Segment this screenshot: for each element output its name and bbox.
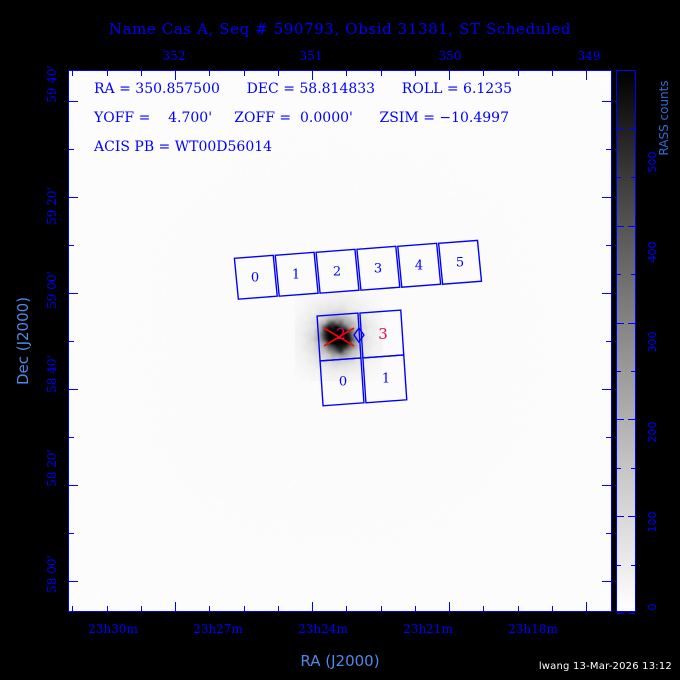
chip-label-acis-i-1: 1: [382, 372, 390, 387]
colorbar-tick: [617, 468, 621, 469]
y-axis-tick: [602, 293, 611, 294]
colorbar-ticklabel-1: 100: [646, 512, 659, 533]
colorbar-tick: [617, 419, 624, 420]
colorbar-ticklabel-5: 500: [646, 152, 659, 173]
colorbar-ticklabel-2: 200: [646, 422, 659, 443]
x-axis-tick: [72, 71, 73, 76]
y-axis-tick: [69, 197, 78, 198]
x-axis-tick: [381, 606, 382, 611]
y-axis-tick: [606, 437, 611, 438]
x-axis-tick: [107, 606, 108, 611]
x-axis-tick: [449, 71, 450, 80]
param-line-ra-dec-roll: RA = 350.857500 DEC = 58.814833 ROLL = 6…: [94, 82, 512, 96]
chip-label-acis-i-3-active: 3: [378, 325, 388, 343]
y-axis-tick: [606, 149, 611, 150]
chip-label-acis-s-5: 5: [456, 256, 464, 271]
colorbar-tick: [628, 613, 635, 614]
x-axis-tick: [415, 71, 416, 76]
colorbar-tick: [617, 323, 624, 324]
y-axis-tick: [602, 197, 611, 198]
x-axis-tick: [552, 71, 553, 76]
bottom-ticklabel-1: 23h27m: [193, 623, 243, 635]
colorbar-ticklabel-4: 400: [646, 242, 659, 263]
colorbar[interactable]: [616, 70, 636, 612]
colorbar-tick: [631, 468, 635, 469]
page-title: Name Cas A, Seq # 590793, Obsid 31381, S…: [0, 20, 680, 38]
footer-timestamp: lwang 13-Mar-2026 13:12: [539, 661, 672, 672]
colorbar-tick: [628, 129, 635, 130]
x-axis-tick: [72, 606, 73, 611]
y-axis-tick: [606, 341, 611, 342]
chip-label-acis-i-2-active: 2: [336, 325, 346, 343]
x-axis-tick: [586, 71, 587, 80]
top-ticklabel-0: 352: [163, 50, 186, 62]
y-axis-tick: [69, 293, 78, 294]
x-axis-tick: [346, 606, 347, 611]
left-ticklabel-1: 59 20': [46, 187, 58, 225]
param-line-yoff-zoff-zsim: YOFF = 4.700' ZOFF = 0.0000' ZSIM = −10.…: [94, 111, 509, 125]
left-ticklabel-2: 59 00': [46, 271, 58, 309]
y-axis-title: Dec (J2000): [14, 297, 32, 385]
colorbar-title: RASS counts: [657, 80, 671, 155]
colorbar-tick: [617, 177, 621, 178]
colorbar-tick: [631, 565, 635, 566]
chip-label-acis-s-3: 3: [374, 262, 382, 277]
chip-label-acis-s-0: 0: [251, 271, 259, 286]
x-axis-tick: [175, 602, 176, 611]
x-axis-tick: [141, 606, 142, 611]
x-axis-tick: [312, 71, 313, 80]
x-axis-tick: [209, 606, 210, 611]
x-axis-tick: [244, 606, 245, 611]
x-axis-tick: [483, 606, 484, 611]
y-axis-tick: [602, 581, 611, 582]
x-axis-tick: [346, 71, 347, 76]
top-ticklabel-2: 350: [439, 50, 462, 62]
x-axis-tick: [278, 71, 279, 76]
bottom-ticklabel-2: 23h24m: [298, 623, 348, 635]
y-axis-tick: [69, 389, 78, 390]
left-ticklabel-3: 58 40': [46, 355, 58, 393]
x-axis-tick: [518, 71, 519, 76]
colorbar-tick: [628, 226, 635, 227]
y-axis-tick: [606, 533, 611, 534]
param-line-acis-pb: ACIS PB = WT00D56014: [94, 140, 272, 154]
x-axis-tick: [141, 71, 142, 76]
x-axis-tick: [209, 71, 210, 76]
left-ticklabel-5: 58 00': [46, 555, 58, 593]
colorbar-tick: [628, 516, 635, 517]
left-ticklabel-0: 59 40': [46, 65, 58, 103]
x-axis-tick: [415, 606, 416, 611]
colorbar-tick: [628, 323, 635, 324]
colorbar-tick: [628, 419, 635, 420]
colorbar-tick: [617, 371, 621, 372]
bottom-ticklabel-4: 23h18m: [508, 623, 558, 635]
y-axis-tick: [69, 341, 74, 342]
y-axis-tick: [69, 149, 74, 150]
y-axis-tick: [69, 485, 78, 486]
chip-label-acis-s-2: 2: [333, 265, 341, 280]
x-axis-tick: [381, 71, 382, 76]
colorbar-tick: [617, 565, 621, 566]
bottom-ticklabel-0: 23h30m: [88, 623, 138, 635]
colorbar-ticklabel-0: 0: [646, 604, 659, 611]
colorbar-tick: [631, 177, 635, 178]
top-ticklabel-1: 351: [300, 50, 323, 62]
x-axis-tick: [518, 606, 519, 611]
colorbar-tick: [631, 371, 635, 372]
y-axis-tick: [602, 389, 611, 390]
colorbar-tick: [617, 613, 624, 614]
y-axis-tick: [69, 101, 78, 102]
x-axis-tick: [552, 606, 553, 611]
left-ticklabel-4: 58 20': [46, 449, 58, 487]
chip-label-acis-i-0: 0: [339, 375, 347, 390]
colorbar-ticklabel-3: 300: [646, 332, 659, 353]
x-axis-tick: [278, 606, 279, 611]
bottom-ticklabel-3: 23h21m: [403, 623, 453, 635]
x-axis-tick: [107, 71, 108, 76]
x-axis-tick: [586, 602, 587, 611]
y-axis-tick: [69, 533, 74, 534]
chip-label-acis-s-1: 1: [292, 268, 300, 283]
chip-label-acis-s-4: 4: [415, 259, 423, 274]
y-axis-tick: [69, 245, 74, 246]
y-axis-tick: [602, 101, 611, 102]
colorbar-tick: [617, 129, 624, 130]
colorbar-tick: [617, 226, 624, 227]
x-axis-tick: [483, 71, 484, 76]
x-axis-tick: [244, 71, 245, 76]
observation-plot-window: Name Cas A, Seq # 590793, Obsid 31381, S…: [0, 0, 680, 680]
x-axis-tick: [175, 71, 176, 80]
colorbar-tick: [631, 274, 635, 275]
y-axis-tick: [69, 437, 74, 438]
y-axis-tick: [602, 485, 611, 486]
y-axis-tick: [69, 581, 78, 582]
y-axis-tick: [606, 245, 611, 246]
colorbar-tick: [617, 516, 624, 517]
top-ticklabel-3: 349: [578, 50, 601, 62]
x-axis-tick: [449, 602, 450, 611]
x-axis-tick: [312, 602, 313, 611]
colorbar-tick: [617, 274, 621, 275]
